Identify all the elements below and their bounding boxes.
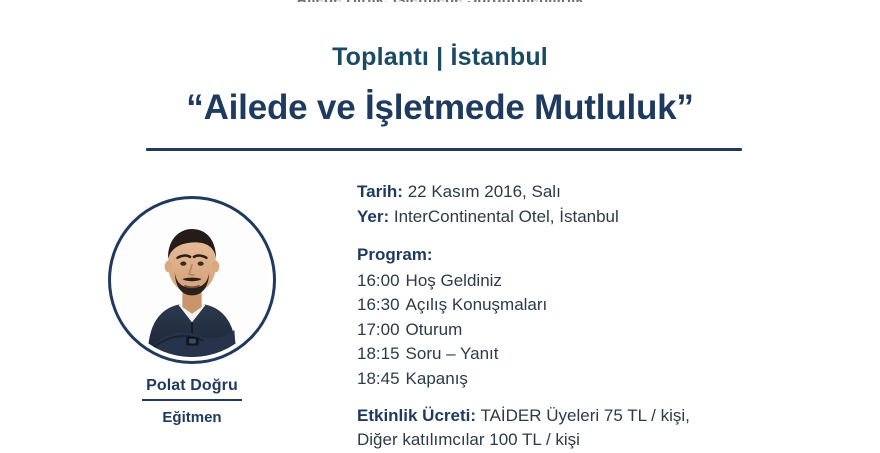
strapline: Ailede Birlik, İşletmede Sürdürülebilirl… <box>0 0 880 2</box>
speaker-card: Polat Doğru Eğitmen <box>104 196 280 426</box>
speaker-role: Eğitmen <box>104 409 280 426</box>
speaker-name-underline <box>142 399 242 401</box>
fee-line-members: Etkinlik Ücreti: TAİDER Üyeleri 75 TL / … <box>357 404 827 428</box>
fee-block: Etkinlik Ücreti: TAİDER Üyeleri 75 TL / … <box>357 404 827 452</box>
speaker-name: Polat Doğru <box>104 377 280 395</box>
program-item: 16:30Açılış Konuşmaları <box>357 293 827 317</box>
program-item: 18:15Soru – Yanıt <box>357 342 827 366</box>
detail-venue: Yer: InterContinental Otel, İstanbul <box>357 205 827 230</box>
program-item-label: Oturum <box>406 320 463 339</box>
program-item-time: 18:15 <box>357 344 400 363</box>
page-title: “Ailede ve İşletmede Mutluluk” <box>0 88 880 128</box>
fee-members-value: TAİDER Üyeleri 75 TL / kişi, <box>480 406 689 425</box>
program-item-time: 18:45 <box>357 369 400 388</box>
program-item: 17:00Oturum <box>357 318 827 342</box>
program-item-label: Açılış Konuşmaları <box>406 295 548 314</box>
program-item-time: 16:30 <box>357 295 400 314</box>
header-divider <box>146 148 742 151</box>
event-details: Tarih: 22 Kasım 2016, Salı Yer: InterCon… <box>357 180 827 453</box>
avatar-clip <box>115 203 269 357</box>
program-item: 18:45Kapanış <box>357 367 827 391</box>
event-flyer: Ailede Birlik, İşletmede Sürdürülebilirl… <box>0 0 880 440</box>
program-item-label: Kapanış <box>406 369 468 388</box>
fee-label: Etkinlik Ücreti: <box>357 406 476 425</box>
program-item-label: Hoş Geldiniz <box>406 271 502 290</box>
fee-line-others: Diğer katılımcılar 100 TL / kişi <box>357 428 827 452</box>
program-item-time: 16:00 <box>357 271 400 290</box>
avatar <box>108 196 276 364</box>
program-item: 16:00Hoş Geldiniz <box>357 269 827 293</box>
detail-venue-label: Yer: <box>357 207 389 226</box>
program-item-time: 17:00 <box>357 320 400 339</box>
detail-date-label: Tarih: <box>357 182 403 201</box>
detail-date-value: 22 Kasım 2016, Salı <box>408 182 561 201</box>
detail-venue-value: InterContinental Otel, İstanbul <box>394 207 619 226</box>
program-item-label: Soru – Yanıt <box>406 344 499 363</box>
portrait-illustration <box>115 203 269 357</box>
detail-date: Tarih: 22 Kasım 2016, Salı <box>357 180 827 205</box>
program-list: 16:00Hoş Geldiniz 16:30Açılış Konuşmalar… <box>357 269 827 391</box>
program-label: Program: <box>357 243 827 268</box>
event-eyebrow: Toplantı | İstanbul <box>0 43 880 72</box>
